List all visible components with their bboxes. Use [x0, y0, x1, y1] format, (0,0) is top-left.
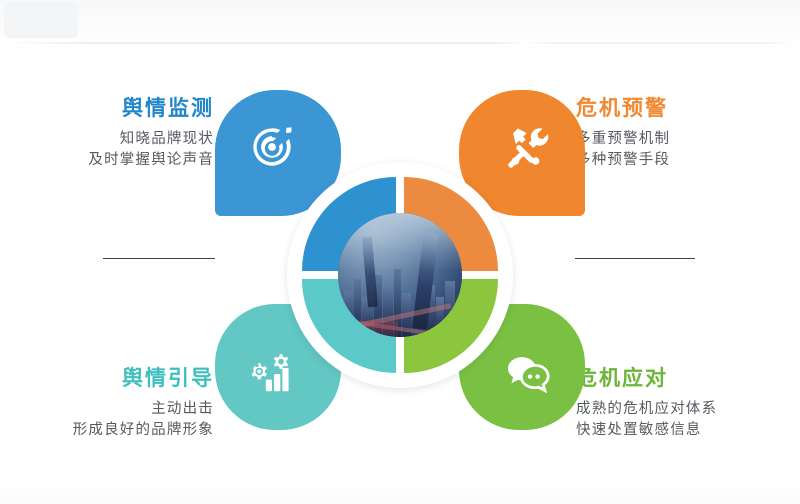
infographic-canvas: 舆情监测 知晓品牌现状 及时掌握舆论声音 危机预警 多重预警机制 多种预警手段 … — [0, 0, 800, 504]
center-city-photo — [338, 213, 462, 337]
photo-building — [344, 291, 353, 337]
photo-warm-ground — [358, 321, 398, 337]
top-left-placeholder-chip — [4, 2, 78, 38]
diagram-wheel: 1 2 3 4 — [175, 60, 625, 460]
photo-haze-layer — [338, 213, 462, 270]
top-horizontal-rule — [8, 42, 792, 44]
bottom-background-wash — [0, 478, 800, 504]
photo-building — [436, 297, 444, 337]
top-background-wash — [0, 0, 800, 46]
